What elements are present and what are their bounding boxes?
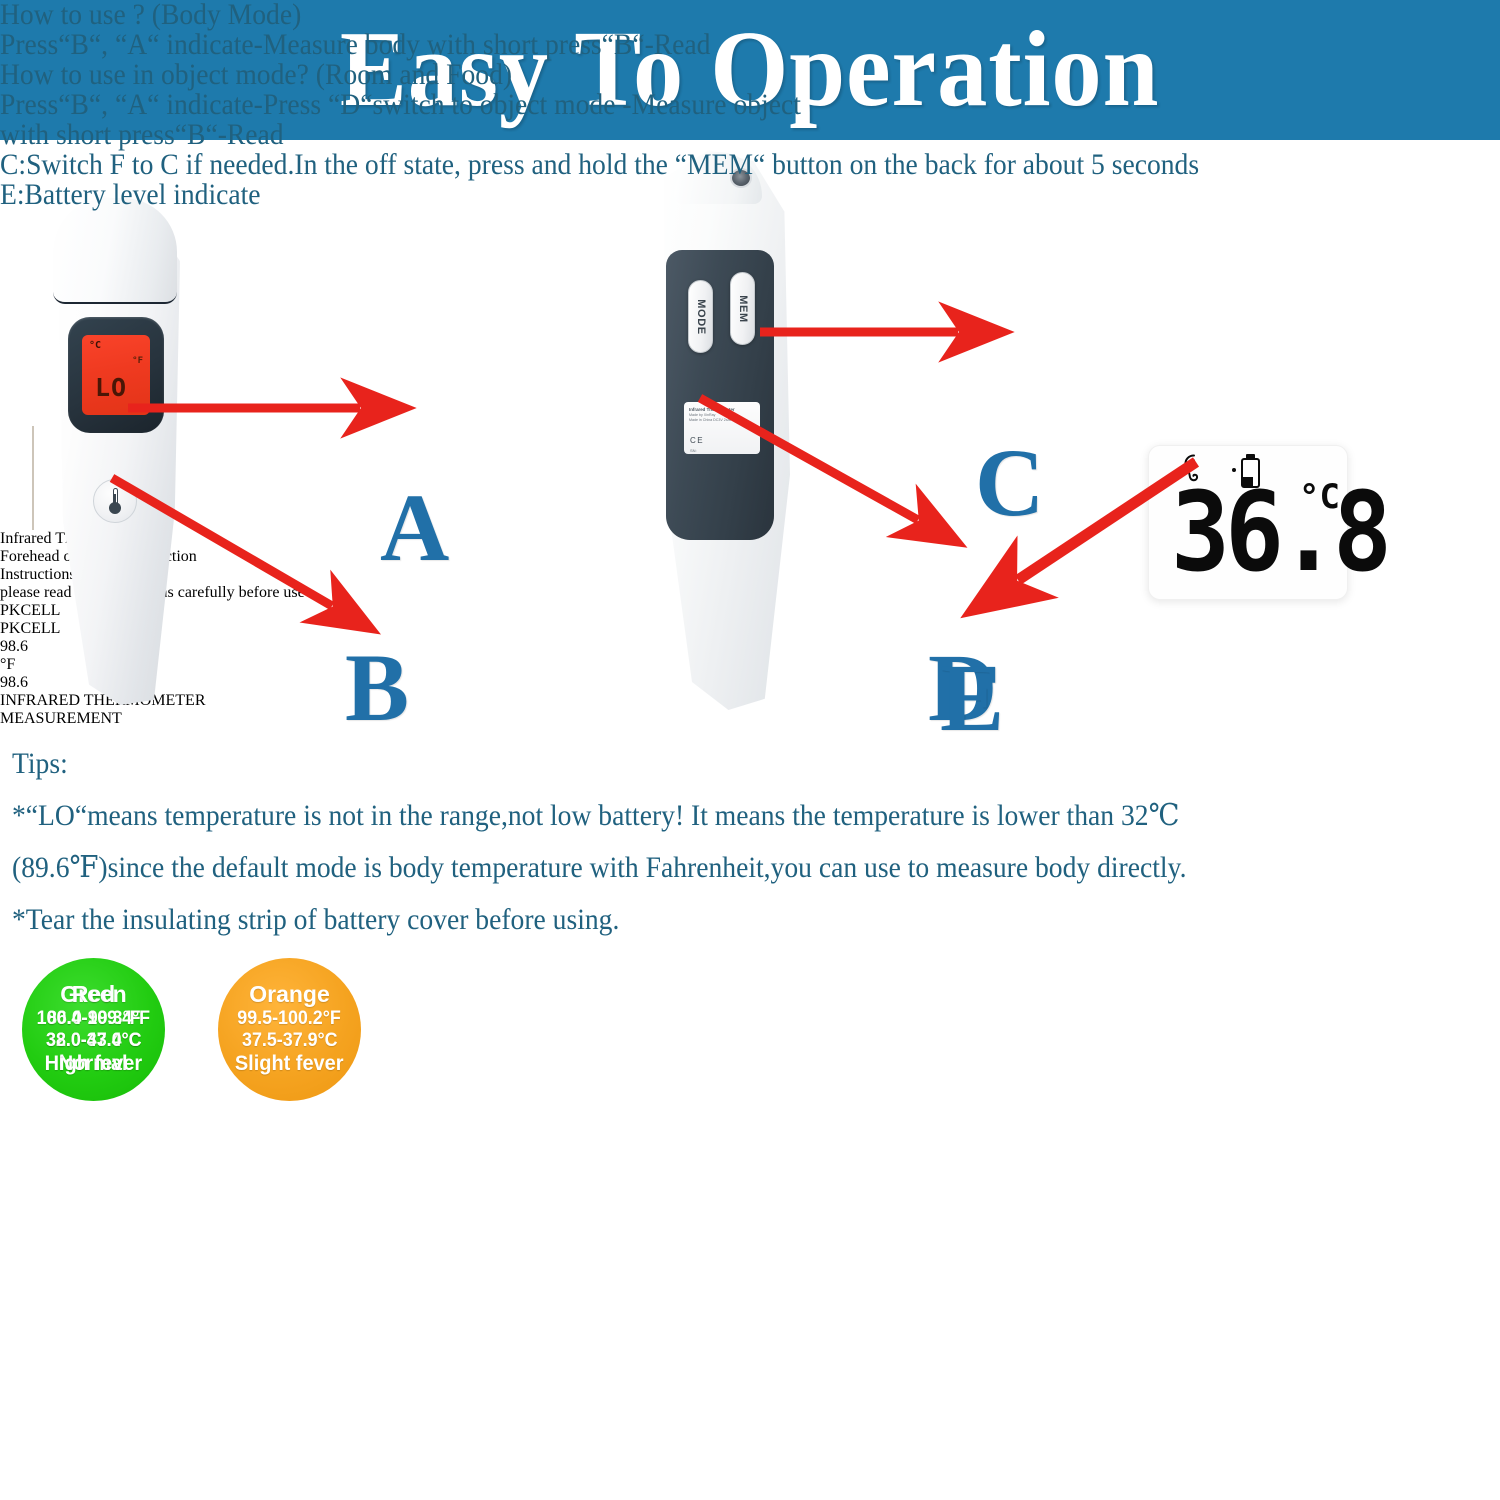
lcd-panel-reading: 36.8 [1171,478,1387,588]
callout-letter-c: C [975,435,1044,531]
callout-letter-b: B [345,640,409,736]
zone-circle-orange: Orange 99.5-100.2°F 37.5-37.9°C Slight f… [218,958,361,1101]
lcd-unit-fahrenheit: °F [132,356,143,366]
zone-red-range-f: 100.4-109.4°F [37,1008,150,1030]
howto-line-4: Press“B“, “A“ indicate-Press “D“switch t… [0,90,1380,120]
diagram-stage: °C °F LO MODE MEM Infrared Thermometer [0,140,1500,740]
howto-line-7: E:Battery level indicate [0,180,1380,210]
lcd-unit-celsius: °C [89,340,101,351]
zone-orange-name: Orange [249,982,330,1007]
howto-line-6: C:Switch F to C if needed.In the off sta… [0,150,1380,180]
lcd-display-lo: °C °F LO [82,335,150,415]
device-spec-label: Infrared Thermometer Made by XinRay Made… [684,402,760,454]
ce-mark-icon: CE [690,436,704,445]
tips-line-1: *“LO“means temperature is not in the ran… [12,801,1179,831]
howto-line-5: with short press“B“-Read [0,120,1380,150]
device-front-top-cap [53,198,177,304]
zone-orange-status: Slight fever [235,1052,344,1076]
zone-orange-range-c: 37.5-37.9°C [242,1030,338,1052]
zone-circle-red: Red 100.4-109.4°F 38.0-43.0°C High fever [22,958,165,1101]
mem-button-label: MEM [737,295,749,322]
tips-line-2: (89.6℉)since the default mode is body te… [12,853,1186,883]
spec-label-line2: Made in China DC3V 2xAAA [689,418,755,423]
how-to-use-section: How to use ? (Body Mode) Press“B“, “A“ i… [0,0,1500,210]
zone-red-name: Red [72,982,115,1007]
spec-label-serial: SN: [690,448,697,453]
zone-orange-range-f: 99.5-100.2°F [238,1008,341,1030]
mode-button[interactable]: MODE [688,280,713,353]
thermometer-icon [109,488,121,514]
power-measure-button[interactable] [93,479,137,523]
mode-button-label: MODE [695,299,707,334]
howto-line-3: How to use in object mode? (Room and Foo… [0,60,1380,90]
lcd-reading-panel: 36.8 °C [1148,445,1348,600]
tips-line-3: *Tear the insulating strip of battery co… [12,905,619,935]
mem-button[interactable]: MEM [730,272,755,345]
thermometer-front-view: °C °F LO [50,195,180,705]
thermometer-back-view: MODE MEM Infrared Thermometer Made by Xi… [650,150,790,710]
zone-red-range-c: 38.0-43.0°C [46,1030,142,1052]
zone-red-status: High fever [45,1052,143,1076]
callout-letter-e: E [940,650,1004,746]
howto-line-2: Press“B“, “A“ indicate-Measure body with… [0,30,1380,60]
temperature-zone-legend: Green 86.0-99.3°F 32.0-37.4°C Normal Ora… [22,958,582,1103]
device-front-screen-bezel: °C °F LO [68,317,164,433]
lcd-panel-unit: °C [1299,480,1340,514]
callout-letter-a: A [380,480,449,576]
device-back-grip: MODE MEM Infrared Thermometer Made by Xi… [666,250,774,540]
lcd-reading: LO [95,375,127,400]
tips-section: Tips: *“LO“means temperature is not in t… [12,738,1492,946]
tips-heading: Tips: [12,749,68,779]
howto-line-1: How to use ? (Body Mode) [0,0,1380,30]
